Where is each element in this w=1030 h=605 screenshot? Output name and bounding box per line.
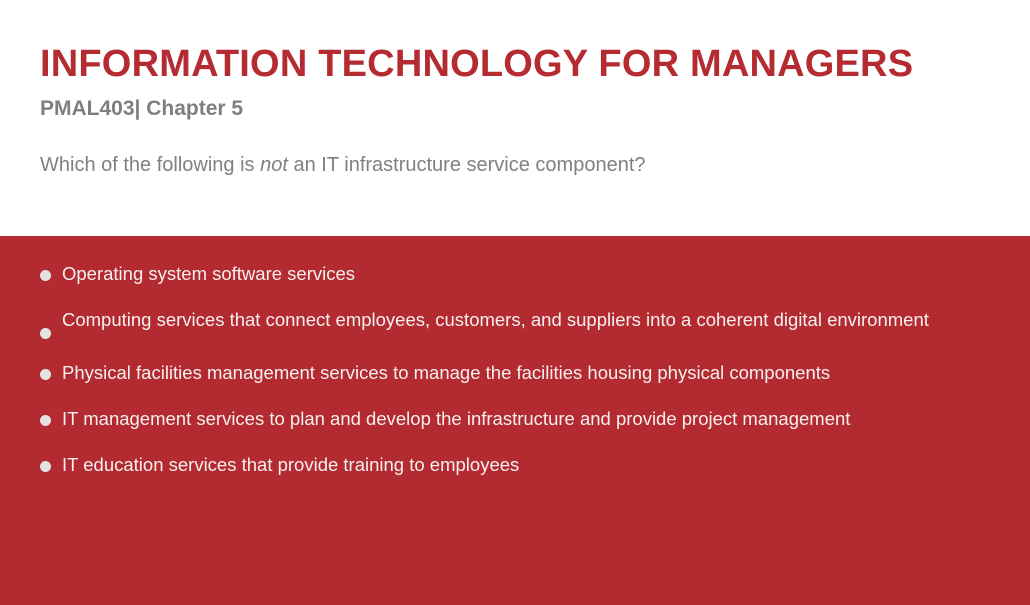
bullet-circle-icon	[40, 461, 51, 472]
answer-option[interactable]: Operating system software services	[40, 262, 990, 286]
bullet-circle-icon	[40, 270, 51, 281]
course-chapter-subtitle: PMAL403| Chapter 5	[40, 96, 243, 121]
answer-option[interactable]: IT education services that provide train…	[40, 453, 990, 477]
answer-option-label: Operating system software services	[62, 262, 942, 286]
question-emphasis: not	[260, 154, 288, 176]
answer-option[interactable]: IT management services to plan and devel…	[40, 407, 990, 431]
bullet-circle-icon	[40, 328, 51, 339]
bullet-circle-icon	[40, 369, 51, 380]
slide-header: INFORMATION TECHNOLOGY FOR MANAGERS PMAL…	[0, 0, 1030, 236]
answer-option-label: Physical facilities management services …	[62, 361, 942, 385]
answer-option-label: IT management services to plan and devel…	[62, 407, 990, 431]
question-suffix: an IT infrastructure service component?	[288, 154, 646, 176]
slide: INFORMATION TECHNOLOGY FOR MANAGERS PMAL…	[0, 0, 1030, 605]
page-title: INFORMATION TECHNOLOGY FOR MANAGERS	[40, 45, 913, 83]
question-prefix: Which of the following is	[40, 154, 260, 176]
bullet-circle-icon	[40, 415, 51, 426]
answer-option-list: Operating system software services Compu…	[40, 262, 990, 477]
question-text: Which of the following is not an IT infr…	[40, 152, 646, 179]
answer-option[interactable]: Physical facilities management services …	[40, 361, 990, 385]
answer-panel: Operating system software services Compu…	[0, 236, 1030, 605]
answer-option-label: IT education services that provide train…	[62, 453, 942, 477]
answer-option-label: Computing services that connect employee…	[62, 308, 942, 332]
answer-option[interactable]: Computing services that connect employee…	[40, 308, 990, 339]
